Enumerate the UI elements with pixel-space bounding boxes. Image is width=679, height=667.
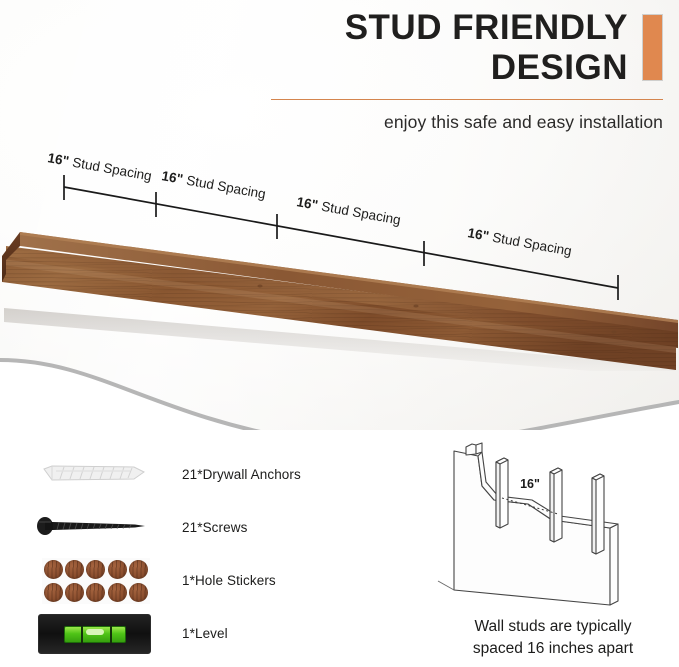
- title-line-2: DESIGN: [271, 48, 628, 88]
- hole-stickers-icon: [30, 556, 160, 604]
- sticker-dot: [86, 560, 105, 579]
- floor-line: [438, 581, 454, 590]
- header-divider-rule: [271, 99, 663, 101]
- list-item: 1*Hole Stickers: [30, 554, 360, 606]
- product-infographic: 16" Stud Spacing 16" Stud Spacing 16" St…: [0, 0, 679, 667]
- stud-side: [550, 472, 554, 542]
- level-icon: [30, 609, 160, 657]
- sticker-dot: [129, 583, 148, 602]
- parts-list: 21*Drywall Anchors: [30, 448, 360, 660]
- sticker-dot: [129, 560, 148, 579]
- drywall-anchor-icon: [30, 450, 160, 498]
- title-row: STUD FRIENDLY DESIGN: [271, 8, 663, 88]
- part-label: 1*Level: [160, 626, 228, 641]
- accessories-section: 21*Drywall Anchors: [0, 430, 679, 667]
- page-title: STUD FRIENDLY DESIGN: [271, 8, 642, 88]
- sticker-dot: [44, 583, 63, 602]
- title-line-1: STUD FRIENDLY: [271, 8, 628, 48]
- sticker-sheet: [42, 558, 150, 604]
- level-vial: [64, 626, 126, 643]
- level-bubble: [86, 629, 104, 635]
- header-subtitle: enjoy this safe and easy installation: [271, 112, 663, 133]
- sticker-dot: [86, 583, 105, 602]
- level-mark: [110, 626, 112, 643]
- sticker-dot: [44, 560, 63, 579]
- list-item: 21*Drywall Anchors: [30, 448, 360, 500]
- orange-accent-bar: [642, 14, 663, 81]
- sticker-dot: [65, 583, 84, 602]
- spirit-level-body: [38, 614, 151, 654]
- wall-stud-diagram: 16": [432, 438, 668, 616]
- wall-shelf-product: [0, 196, 679, 371]
- list-item: 1*Level: [30, 607, 360, 659]
- screw-icon: [30, 503, 160, 551]
- caption-line-1: Wall studs are typically: [430, 616, 676, 638]
- sticker-dot: [108, 560, 127, 579]
- sticker-dot: [65, 560, 84, 579]
- level-mark: [81, 626, 83, 643]
- caption-line-2: spaced 16 inches apart: [430, 638, 676, 660]
- part-label: 21*Drywall Anchors: [160, 467, 301, 482]
- header: STUD FRIENDLY DESIGN enjoy this safe and…: [271, 8, 663, 133]
- part-label: 1*Hole Stickers: [160, 573, 276, 588]
- stud-side: [592, 478, 596, 554]
- stud-side: [496, 462, 500, 528]
- part-label: 21*Screws: [160, 520, 247, 535]
- stud-dimension-label: 16": [520, 477, 540, 491]
- list-item: 21*Screws: [30, 501, 360, 553]
- sticker-dot: [108, 583, 127, 602]
- stud-diagram-caption: Wall studs are typically spaced 16 inche…: [430, 616, 676, 660]
